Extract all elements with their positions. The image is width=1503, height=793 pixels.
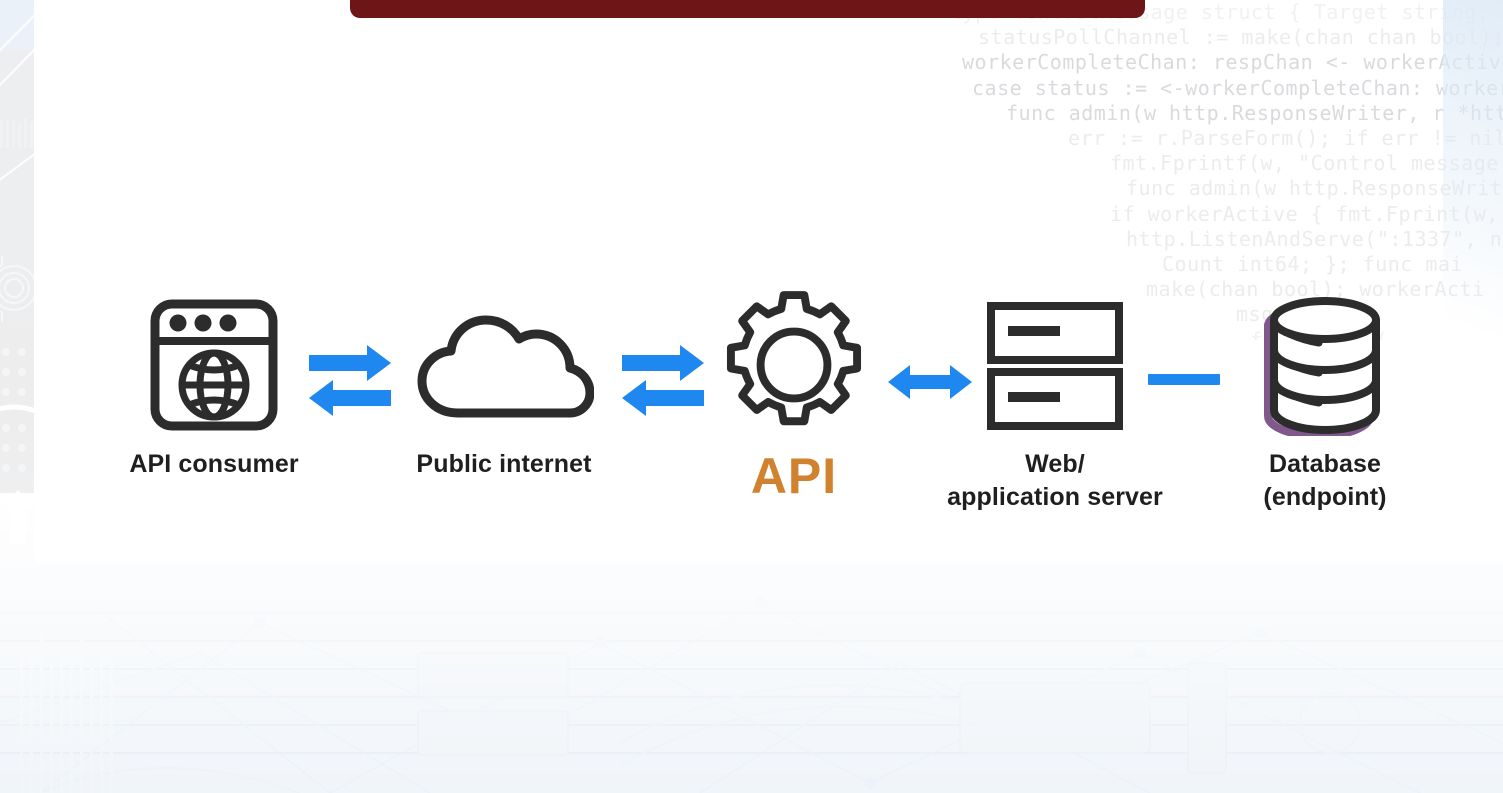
database-cylinder-icon: [1225, 290, 1425, 440]
node-api[interactable]: API: [694, 290, 894, 504]
code-line: http.ListenAndServe(":1337", nil)); };pa…: [950, 227, 1503, 252]
connector-consumer-to-internet: [305, 343, 395, 423]
browser-globe-icon: [114, 290, 314, 440]
api-flow-diagram: API consumer Public internet: [0, 275, 1503, 555]
code-line: func admin(w http.ResponseWriter, r *htt…: [950, 101, 1503, 126]
node-label-line1: Web/: [944, 448, 1166, 481]
code-line: Count int64; }; func mai: [950, 252, 1503, 277]
node-database[interactable]: Database (endpoint): [1225, 290, 1425, 514]
code-line: if workerActive { fmt.Fprint(w, "ACTIVE": [950, 202, 1503, 227]
node-label: Public internet: [404, 448, 604, 481]
top-red-banner: [350, 0, 1145, 18]
code-line: case status := <-workerCompleteChan: wor…: [950, 76, 1503, 101]
node-public-internet[interactable]: Public internet: [404, 290, 604, 481]
code-line: err := r.ParseForm(); if err != nil { fm…: [950, 126, 1503, 151]
gear-icon: [694, 290, 894, 440]
server-rack-icon: [944, 290, 1166, 440]
diagram-canvas: type ControlMessage struct { Target stri…: [0, 0, 1503, 793]
node-label-line2: application server: [944, 481, 1166, 514]
node-api-consumer[interactable]: API consumer: [114, 290, 314, 481]
node-web-app-server[interactable]: Web/ application server: [944, 290, 1166, 514]
cloud-icon: [404, 290, 604, 440]
connector-server-to-database: [1148, 369, 1224, 394]
node-label-line2: (endpoint): [1225, 481, 1425, 514]
node-label: API: [694, 448, 894, 504]
node-label-line1: Database: [1225, 448, 1425, 481]
node-label: API consumer: [114, 448, 314, 481]
code-line: fmt.Fprintf(w, "Control message issued f…: [950, 151, 1503, 176]
code-line: func admin(w http.ResponseWriter, r *htt…: [950, 176, 1503, 201]
code-line: workerCompleteChan: respChan <- workerAc…: [950, 50, 1503, 75]
code-line: statusPollChannel := make(chan chan bool…: [950, 25, 1503, 50]
